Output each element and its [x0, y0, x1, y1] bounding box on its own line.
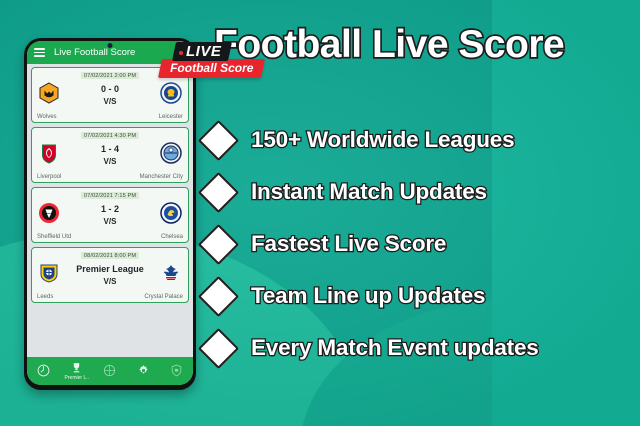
football-icon [37, 364, 50, 377]
gear-icon [137, 364, 150, 377]
feature-label: Team Line up Updates [251, 283, 485, 309]
feature-list: 150+ Worldwide Leagues Instant Match Upd… [204, 114, 632, 374]
diamond-bullet-icon [198, 171, 239, 212]
phone-screen: Live Football Score 07/02/2021 2:00 PM 0… [27, 41, 193, 385]
match-time: 07/02/2021 7:15 PM [81, 192, 139, 199]
diamond-bullet-icon [198, 223, 239, 264]
feature-item: Fastest Live Score [204, 218, 632, 270]
team-name-away: Manchester City [140, 174, 183, 180]
camera-notch-icon [108, 43, 113, 48]
match-time: 07/02/2021 4:30 PM [81, 132, 139, 139]
bottom-navigation: Premier L.. [27, 357, 193, 385]
diamond-bullet-icon [198, 275, 239, 316]
team-name-home: Liverpool [37, 174, 61, 180]
team-name-home: Leeds [37, 294, 53, 300]
match-list[interactable]: 07/02/2021 2:00 PM 0 - 0 V/S [27, 64, 193, 357]
live-badge: Football Score LIVE [160, 42, 256, 88]
shield-icon [170, 364, 183, 377]
diamond-bullet-icon [198, 327, 239, 368]
football-field-icon [103, 364, 116, 377]
live-badge-sub-label: Football Score [170, 61, 253, 75]
live-indicator-dot-icon [179, 51, 183, 55]
trophy-icon [70, 361, 83, 374]
team-name-home: Sheffield Utd [37, 234, 71, 240]
feature-item: Every Match Event updates [204, 322, 632, 374]
phone-mockup: Live Football Score 07/02/2021 2:00 PM 0… [24, 38, 196, 390]
poster-canvas: Football Live Score 150+ Worldwide Leagu… [0, 0, 640, 426]
match-card[interactable]: 07/02/2021 7:15 PM 1 - 2 V/S [31, 187, 189, 243]
team-name-home: Wolves [37, 114, 57, 120]
feature-item: 150+ Worldwide Leagues [204, 114, 632, 166]
match-time: 07/02/2021 2:00 PM [81, 72, 139, 79]
team-crest-away-icon [160, 262, 182, 284]
match-card[interactable]: 07/02/2021 4:30 PM 1 - 4 V/S [31, 127, 189, 183]
feature-label: 150+ Worldwide Leagues [251, 127, 514, 153]
feature-label: Instant Match Updates [251, 179, 487, 205]
nav-item-settings[interactable] [128, 364, 158, 378]
page-title: Football Live Score [214, 22, 564, 68]
team-name-away: Chelsea [161, 234, 183, 240]
feature-item: Team Line up Updates [204, 270, 632, 322]
nav-item-teams[interactable] [161, 364, 191, 378]
team-name-away: Leicester [159, 114, 183, 120]
team-name-away: Crystal Palace [144, 294, 183, 300]
nav-item-football[interactable] [29, 364, 59, 378]
match-time: 08/02/2021 8:00 PM [81, 252, 139, 259]
feature-label: Fastest Live Score [251, 231, 446, 257]
feature-label: Every Match Event updates [251, 335, 539, 361]
app-bar-title: Live Football Score [54, 47, 135, 58]
team-crest-away-icon [160, 202, 182, 224]
diamond-bullet-icon [198, 119, 239, 160]
live-badge-banner: Football Score [158, 59, 265, 78]
match-card[interactable]: 08/02/2021 8:00 PM Premier League V/S [31, 247, 189, 303]
nav-item-field[interactable] [95, 364, 125, 378]
feature-item: Instant Match Updates [204, 166, 632, 218]
live-badge-label: LIVE [186, 43, 221, 60]
nav-item-premier-league[interactable]: Premier L.. [62, 361, 92, 381]
team-crest-away-icon [160, 142, 182, 164]
hamburger-menu-icon[interactable] [34, 48, 45, 57]
nav-label: Premier L.. [65, 375, 89, 381]
